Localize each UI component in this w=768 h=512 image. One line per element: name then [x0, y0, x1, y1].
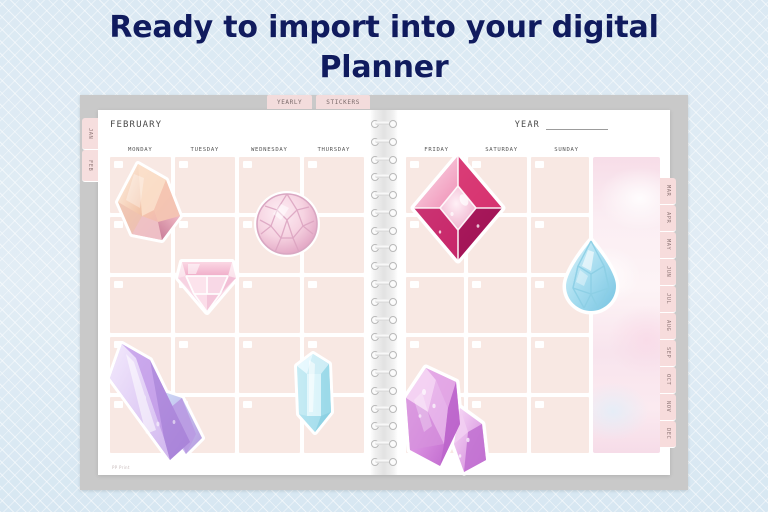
date-box[interactable] — [410, 281, 419, 288]
date-box[interactable] — [243, 341, 252, 348]
day-header-thursday: THURSDAY — [304, 146, 365, 154]
calendar-cell[interactable] — [304, 217, 365, 273]
calendar-cell[interactable] — [304, 277, 365, 333]
spiral-binding — [370, 110, 398, 475]
date-box[interactable] — [243, 281, 252, 288]
year-input[interactable] — [546, 121, 608, 130]
binding-ring — [370, 260, 398, 271]
calendar-cell[interactable] — [304, 337, 365, 393]
calendar-column — [110, 157, 171, 453]
calendar-grid-right — [406, 157, 660, 453]
calendar-column — [531, 157, 589, 453]
calendar-cell[interactable] — [175, 157, 236, 213]
calendar-cell[interactable] — [304, 157, 365, 213]
calendar-cell[interactable] — [406, 277, 464, 333]
date-box[interactable] — [410, 221, 419, 228]
binding-ring — [370, 420, 398, 431]
date-box[interactable] — [243, 161, 252, 168]
month-tabs-left: JAN FEB — [82, 118, 98, 182]
watermark: PP Print — [112, 465, 130, 470]
tab-stickers[interactable]: STICKERS — [316, 95, 370, 109]
day-header-wednesday: WEDNESDAY — [239, 146, 300, 154]
binding-ring — [370, 456, 398, 467]
binding-ring — [370, 136, 398, 147]
date-box[interactable] — [472, 281, 481, 288]
calendar-cell[interactable] — [304, 397, 365, 453]
calendar-cell[interactable] — [110, 217, 171, 273]
calendar-cell[interactable] — [531, 337, 589, 393]
day-header-monday: MONDAY — [110, 146, 171, 154]
month-tab-dec[interactable]: DEC — [660, 421, 676, 448]
calendar-cell[interactable] — [239, 217, 300, 273]
calendar-grid-left — [110, 157, 364, 453]
day-header-saturday: SATURDAY — [471, 146, 532, 154]
date-box[interactable] — [472, 161, 481, 168]
notes-watercolor-column[interactable] — [593, 157, 660, 453]
calendar-cell[interactable] — [468, 157, 526, 213]
binding-ring — [370, 296, 398, 307]
calendar-cell[interactable] — [110, 277, 171, 333]
tab-yearly[interactable]: YEARLY — [267, 95, 312, 109]
date-box[interactable] — [179, 341, 188, 348]
month-tab-may[interactable]: MAY — [660, 232, 676, 259]
calendar-cell[interactable] — [468, 217, 526, 273]
calendar-cell[interactable] — [406, 337, 464, 393]
calendar-cell[interactable] — [239, 277, 300, 333]
month-tab-jan[interactable]: JAN — [82, 118, 98, 150]
date-box[interactable] — [243, 221, 252, 228]
date-box[interactable] — [535, 161, 544, 168]
date-box[interactable] — [179, 221, 188, 228]
binding-ring — [370, 118, 398, 129]
month-tab-oct[interactable]: OCT — [660, 367, 676, 394]
calendar-column — [175, 157, 236, 453]
month-tab-mar[interactable]: MAR — [660, 178, 676, 205]
date-box[interactable] — [535, 221, 544, 228]
date-box[interactable] — [243, 401, 252, 408]
date-box[interactable] — [114, 281, 123, 288]
binding-ring — [370, 278, 398, 289]
month-tab-apr[interactable]: APR — [660, 205, 676, 232]
calendar-cell[interactable] — [239, 157, 300, 213]
date-box[interactable] — [179, 161, 188, 168]
date-box[interactable] — [535, 281, 544, 288]
month-tab-nov[interactable]: NOV — [660, 394, 676, 421]
binding-ring — [370, 349, 398, 360]
calendar-cell[interactable] — [175, 277, 236, 333]
date-box[interactable] — [410, 341, 419, 348]
date-box[interactable] — [535, 401, 544, 408]
date-box[interactable] — [472, 221, 481, 228]
calendar-cell[interactable] — [175, 337, 236, 393]
month-tab-jun[interactable]: JUN — [660, 259, 676, 286]
month-tab-sep[interactable]: SEP — [660, 340, 676, 367]
calendar-column — [468, 157, 526, 453]
date-box[interactable] — [308, 221, 317, 228]
calendar-cell[interactable] — [531, 277, 589, 333]
month-title: FEBRUARY — [110, 120, 364, 130]
binding-ring — [370, 367, 398, 378]
page-title: Ready to import into your digital Planne… — [0, 8, 768, 88]
binding-ring — [370, 189, 398, 200]
binding-ring — [370, 225, 398, 236]
date-box[interactable] — [114, 401, 123, 408]
binding-ring — [370, 403, 398, 414]
calendar-cell[interactable] — [175, 397, 236, 453]
calendar-cell[interactable] — [110, 397, 171, 453]
year-field[interactable]: YEAR — [406, 120, 660, 130]
date-box[interactable] — [308, 401, 317, 408]
day-header-sunday: SUNDAY — [536, 146, 597, 154]
page-title-line-1: Ready to import into your digital — [109, 10, 658, 45]
month-tab-aug[interactable]: AUG — [660, 313, 676, 340]
date-box[interactable] — [308, 341, 317, 348]
page-title-line-2: Planner — [0, 48, 768, 88]
calendar-cell[interactable] — [175, 217, 236, 273]
calendar-cell[interactable] — [406, 397, 464, 453]
calendar-column — [406, 157, 464, 453]
calendar-cell[interactable] — [531, 157, 589, 213]
month-tab-feb[interactable]: FEB — [82, 150, 98, 182]
calendar-cell[interactable] — [239, 337, 300, 393]
calendar-cell[interactable] — [110, 157, 171, 213]
month-tabs-right: MAR APR MAY JUN JUL AUG SEP OCT NOV DEC — [660, 178, 676, 448]
planner-spread: FEBRUARY MONDAY TUESDAY WEDNESDAY THURSD… — [98, 110, 670, 475]
binding-ring — [370, 207, 398, 218]
date-box[interactable] — [472, 341, 481, 348]
date-box[interactable] — [472, 401, 481, 408]
binding-ring — [370, 154, 398, 165]
date-box[interactable] — [114, 221, 123, 228]
day-header-tuesday: TUESDAY — [175, 146, 236, 154]
date-box[interactable] — [535, 341, 544, 348]
top-tab-bar: YEARLY STICKERS — [267, 95, 370, 109]
date-box[interactable] — [114, 161, 123, 168]
month-tab-jul[interactable]: JUL — [660, 286, 676, 313]
calendar-cell[interactable] — [406, 217, 464, 273]
planner-page-right: YEAR FRIDAY SATURDAY SUNDAY — [398, 110, 670, 475]
date-box[interactable] — [114, 341, 123, 348]
binding-ring — [370, 171, 398, 182]
calendar-cell[interactable] — [531, 397, 589, 453]
binding-ring — [370, 438, 398, 449]
binding-ring — [370, 314, 398, 325]
date-box[interactable] — [410, 161, 419, 168]
calendar-cell[interactable] — [468, 277, 526, 333]
date-box[interactable] — [179, 401, 188, 408]
date-box[interactable] — [179, 281, 188, 288]
binding-ring — [370, 331, 398, 342]
binding-ring — [370, 242, 398, 253]
calendar-cell[interactable] — [110, 337, 171, 393]
calendar-cell[interactable] — [468, 337, 526, 393]
year-label: YEAR — [515, 120, 540, 130]
day-header-row-right: FRIDAY SATURDAY SUNDAY — [406, 146, 660, 154]
day-header-friday: FRIDAY — [406, 146, 467, 154]
calendar-cell[interactable] — [406, 157, 464, 213]
calendar-cell[interactable] — [239, 397, 300, 453]
calendar-cell[interactable] — [468, 397, 526, 453]
calendar-column — [239, 157, 300, 453]
binding-ring — [370, 385, 398, 396]
day-header-row-left: MONDAY TUESDAY WEDNESDAY THURSDAY — [110, 146, 364, 154]
calendar-column — [304, 157, 365, 453]
planner-page-left: FEBRUARY MONDAY TUESDAY WEDNESDAY THURSD… — [98, 110, 370, 475]
binding-rings — [370, 110, 398, 475]
calendar-cell[interactable] — [531, 217, 589, 273]
date-box[interactable] — [410, 401, 419, 408]
date-box[interactable] — [308, 161, 317, 168]
date-box[interactable] — [308, 281, 317, 288]
